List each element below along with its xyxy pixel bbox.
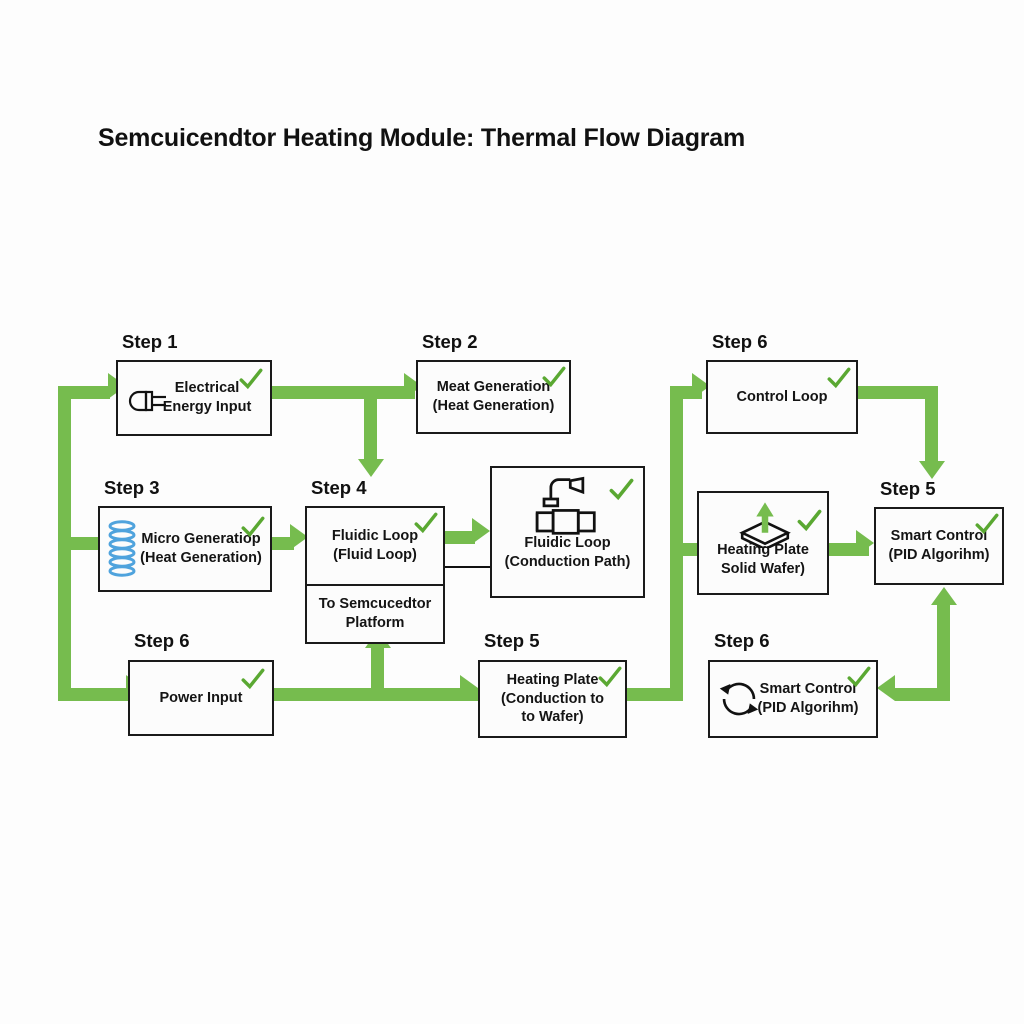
node-micro-generatiop[interactable]: Micro Generatiop (Heat Generation) [98,506,272,592]
step-label-5-bottom: Step 5 [484,630,540,652]
node-heating-plate-conduction[interactable]: Heating Plate (Conduction to to Wafer) [478,660,627,738]
node-heating-plate-solid-wafer[interactable]: Heating Plate Solid Wafer) [697,491,829,595]
node-to-semcucedtor-platform[interactable]: To Semcucedtor Platform [305,586,445,644]
arrow-step4-to-conduction [472,518,490,544]
node-label: Power Input [160,689,243,708]
connector-step1-to-step2 [263,386,415,399]
node-fluidic-loop-fluid[interactable]: Fluidic Loop (Fluid Loop) [305,506,445,586]
node-label: Heating Plate Solid Wafer) [717,541,809,578]
step-label-2: Step 2 [422,331,478,353]
connector-control-loop-down [925,386,938,466]
node-smart-control-bottom[interactable]: Smart Control (PID Algorihm) [708,660,878,738]
step-label-5-right: Step 5 [880,478,936,500]
node-smart-control-right[interactable]: Smart Control (PID Algorihm) [874,507,1004,585]
node-power-input[interactable]: Power Input [128,660,274,736]
connector-bus-to-step3 [58,537,100,550]
node-label: Micro Generatiop (Heat Generation) [140,530,262,567]
connector-bus-to-power-input [58,688,130,701]
node-control-loop[interactable]: Control Loop [706,360,858,434]
node-label: To Semcucedtor Platform [319,595,432,632]
step-label-power-input: Step 6 [134,630,190,652]
arrow-step1-down-to-step4 [358,459,384,477]
arrow-smart-bottom-up [931,587,957,605]
check-icon [240,666,266,692]
connector-step4-to-conduction [445,531,475,544]
step-label-control-loop: Step 6 [712,331,768,353]
node-label: Smart Control (PID Algorihm) [889,527,990,564]
arrow-power-to-step5 [460,675,478,701]
connector-bus-to-step1 [58,386,110,399]
node-label: Control Loop [736,388,827,407]
node-meat-generation[interactable]: Meat Generation (Heat Generation) [416,360,571,434]
node-label: Smart Control (PID Algorihm) [758,680,859,717]
step-label-1: Step 1 [122,331,178,353]
arrow-smart-bottom-in [877,675,895,701]
check-icon [796,507,823,534]
node-label: Fluidic Loop (Conduction Path) [505,534,631,571]
node-label: Heating Plate (Conduction to to Wafer) [501,671,604,727]
page-title: Semcuicendtor Heating Module: Thermal Fl… [98,124,745,153]
pipe-valve-icon [528,476,608,538]
connector-power-up-to-platform [371,643,384,695]
connector-smart-bottom-up [937,600,950,695]
node-label: Meat Generation (Heat Generation) [433,378,555,415]
step-label-4: Step 4 [311,477,367,499]
step-label-smart-bottom: Step 6 [714,630,770,652]
step-label-3: Step 3 [104,477,160,499]
diagram-canvas: Semcuicendtor Heating Module: Thermal Fl… [0,0,1024,1024]
refresh-cycle-icon [716,676,762,722]
node-electrical-energy-input[interactable]: Electrical Energy Input [116,360,272,436]
check-icon [608,476,635,503]
connector-step1-down-to-step4 [364,386,377,464]
arrow-wafer-to-smart-control [856,530,874,556]
heating-coil-icon [107,516,137,584]
arrow-control-loop-down [919,461,945,479]
node-label: Electrical Energy Input [163,379,252,416]
check-icon [826,365,852,391]
node-label: Fluidic Loop (Fluid Loop) [332,527,418,564]
node-fluidic-loop-conduction[interactable]: Fluidic Loop (Conduction Path) [490,466,645,598]
